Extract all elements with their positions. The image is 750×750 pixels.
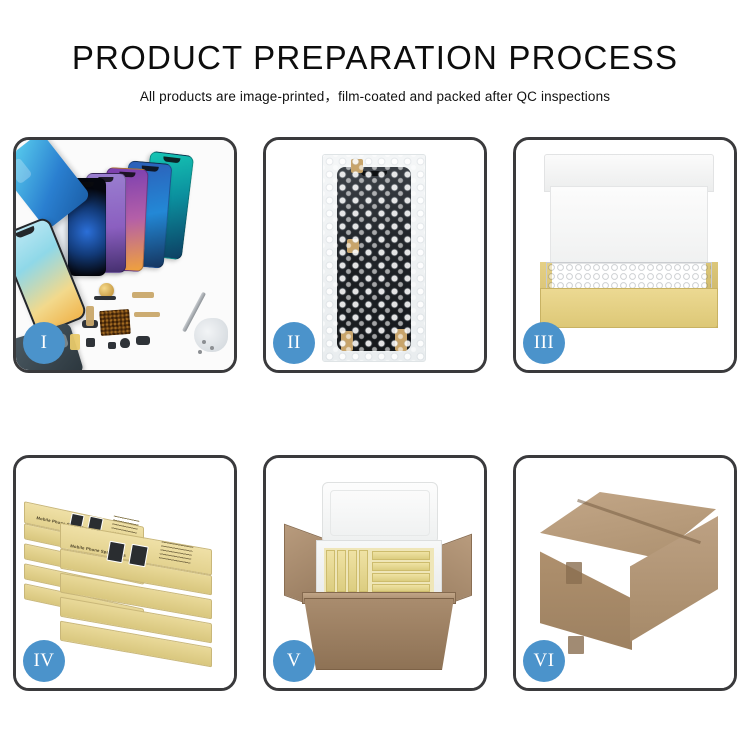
- step-badge-3: III: [523, 322, 565, 364]
- step-panel-bubble-wrapped-screen: II: [263, 137, 487, 373]
- small-part-1: [94, 296, 116, 300]
- foam-cavity-contents: [324, 548, 434, 594]
- small-part-3: [136, 336, 150, 345]
- flex-cable-1: [132, 292, 154, 298]
- box-front-yellow-panel: [540, 288, 718, 328]
- product-preparation-infographic: PRODUCT PREPARATION PROCESS All products…: [0, 0, 750, 750]
- small-part-5: [108, 342, 116, 349]
- carton-tab-lower: [568, 636, 584, 654]
- flex-cable-3: [86, 306, 94, 326]
- step-badge-2: II: [273, 322, 315, 364]
- screw-3: [198, 350, 202, 354]
- screw-1: [202, 340, 206, 344]
- chip-grid-part: [99, 309, 131, 336]
- step-badge-1: I: [23, 322, 65, 364]
- box-label-screen-3: [106, 541, 125, 563]
- carton-body: [304, 598, 454, 670]
- step-panel-phones-and-spare-parts: I: [13, 137, 237, 373]
- bubble-texture-overlay: [323, 155, 425, 361]
- step-badge-4: IV: [23, 640, 65, 682]
- small-part-6: [86, 338, 95, 347]
- header: PRODUCT PREPARATION PROCESS All products…: [0, 0, 750, 105]
- carton-left-face: [540, 538, 632, 650]
- box-lid-white-panel: [550, 186, 708, 264]
- step-badge-5: V: [273, 640, 315, 682]
- page-title: PRODUCT PREPARATION PROCESS: [0, 40, 750, 76]
- flex-cable-2: [134, 312, 160, 317]
- step-panel-sealed-shipping-carton: VI: [513, 455, 737, 691]
- page-subtitle: All products are image-printed，film-coat…: [0, 85, 750, 105]
- box-label-screen-4: [128, 544, 148, 568]
- flex-cable-4: [70, 334, 80, 350]
- step-panel-stacked-labeled-boxes: Mobile Phone Spare Parts Mobile Phone Sp…: [13, 455, 237, 691]
- screw-2: [210, 346, 214, 350]
- step-panel-open-inner-box: III: [513, 137, 737, 373]
- foam-case-lid: [322, 482, 438, 544]
- small-part-4: [120, 338, 130, 348]
- step-badge-6: VI: [523, 640, 565, 682]
- bubble-wrapped-contents: [546, 262, 712, 290]
- bubble-wrap-bag: [322, 154, 426, 362]
- process-steps-grid: I II: [13, 137, 737, 691]
- carton-tab-upper: [566, 562, 582, 584]
- step-panel-foam-carton-packing: V: [263, 455, 487, 691]
